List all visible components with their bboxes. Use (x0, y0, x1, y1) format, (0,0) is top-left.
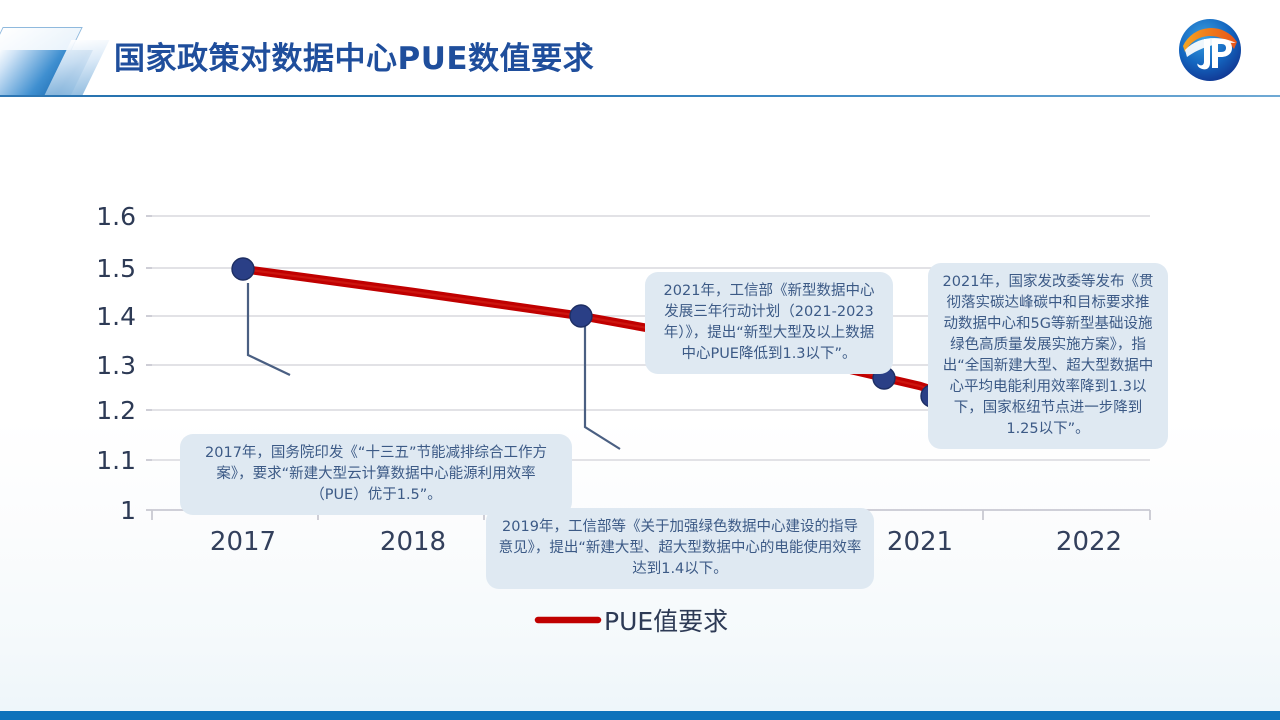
y-tick-label: 1.3 (96, 351, 136, 380)
y-tick-label: 1 (120, 496, 136, 525)
x-tick-label: 2018 (380, 527, 446, 557)
chart-y-ticks (146, 216, 152, 510)
footer-accent-bar (0, 711, 1280, 720)
pue-line-chart: 1.6 1.5 1.4 1.3 1.2 1.1 1 2017 2018 2019… (0, 97, 1280, 697)
annotation-callout-ndrc-2021: 2021年，国家发改委等发布《贯彻落实碳达峰碳中和目标要求推动数据中心和5G等新… (928, 263, 1168, 449)
chart-y-tick-labels: 1.6 1.5 1.4 1.3 1.2 1.1 1 (96, 202, 136, 525)
company-logo-icon (1176, 16, 1244, 84)
data-point-marker (570, 305, 592, 327)
annotation-callout-2019: 2019年，工信部等《关于加强绿色数据中心建设的指导意见》，提出“新建大型、超大… (486, 508, 874, 589)
slide-canvas: 国家政策对数据中心PUE数值要求 (0, 0, 1280, 720)
leader-line-2017 (248, 283, 290, 375)
leader-line-2019 (585, 323, 620, 449)
annotation-callout-miit-2021: 2021年，工信部《新型数据中心发展三年行动计划（2021-2023年）》，提出… (645, 272, 893, 374)
x-tick-label: 2021 (887, 527, 953, 557)
x-tick-label: 2017 (210, 527, 276, 557)
page-title: 国家政策对数据中心PUE数值要求 (114, 33, 594, 78)
y-tick-label: 1.5 (96, 254, 136, 283)
y-tick-label: 1.2 (96, 396, 136, 425)
legend-label-pue: PUE值要求 (604, 607, 728, 636)
annotation-callout-2017: 2017年，国务院印发《“十三五”节能减排综合工作方案》，要求“新建大型云计算数… (180, 434, 572, 515)
data-point-marker (232, 258, 254, 280)
y-tick-label: 1.1 (96, 446, 136, 475)
chart-legend: PUE值要求 (538, 607, 728, 636)
y-tick-label: 1.6 (96, 202, 136, 231)
y-tick-label: 1.4 (96, 302, 136, 331)
x-tick-label: 2022 (1056, 527, 1122, 557)
slide-header: 国家政策对数据中心PUE数值要求 (0, 0, 1280, 97)
